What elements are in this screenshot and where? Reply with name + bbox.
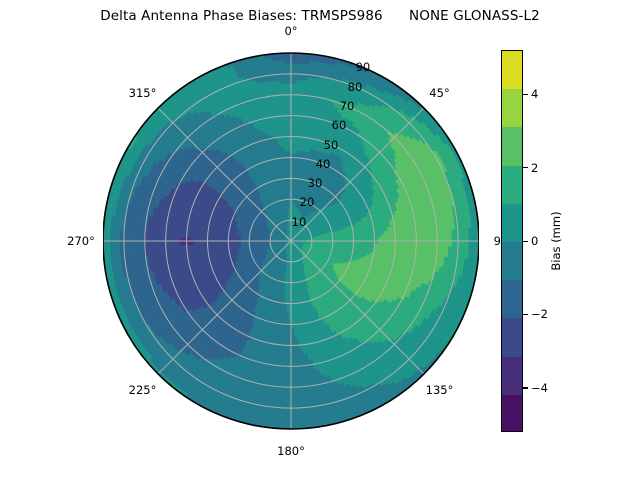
colorbar-tick-label: −4 bbox=[531, 381, 548, 395]
colorbar-band bbox=[502, 280, 522, 318]
colorbar-band bbox=[502, 242, 522, 280]
colorbar-tick bbox=[523, 94, 528, 95]
colorbar-band bbox=[502, 204, 522, 242]
colorbar-tick-label: 0 bbox=[531, 234, 538, 248]
polar-axes bbox=[103, 48, 479, 432]
radial-tick-label-80: 80 bbox=[348, 80, 363, 94]
polar-grid bbox=[103, 53, 479, 429]
azimuth-tick-label-135: 135° bbox=[426, 383, 454, 397]
colorbar bbox=[501, 50, 523, 432]
radial-tick-label-70: 70 bbox=[340, 99, 355, 113]
colorbar-band bbox=[502, 166, 522, 204]
radial-tick-label-40: 40 bbox=[316, 157, 331, 171]
azimuth-tick-label-225: 225° bbox=[129, 383, 157, 397]
colorbar-band bbox=[502, 89, 522, 127]
colorbar-tick-label: 2 bbox=[531, 161, 538, 175]
radial-tick-label-30: 30 bbox=[308, 176, 323, 190]
radial-tick-label-60: 60 bbox=[332, 118, 347, 132]
colorbar-band bbox=[502, 357, 522, 395]
figure-canvas: Delta Antenna Phase Biases: TRMSPS986 NO… bbox=[0, 0, 640, 480]
colorbar-band bbox=[502, 318, 522, 356]
azimuth-tick-label-180: 180° bbox=[277, 444, 305, 458]
radial-tick-label-10: 10 bbox=[292, 215, 307, 229]
colorbar-tick bbox=[523, 167, 528, 168]
colorbar-label: Bias (mm) bbox=[549, 211, 563, 270]
colorbar-band bbox=[502, 51, 522, 89]
polar-plot-svg bbox=[103, 48, 479, 432]
azimuth-tick-label-45: 45° bbox=[429, 86, 449, 100]
colorbar-tick bbox=[523, 241, 528, 242]
radial-tick-label-20: 20 bbox=[300, 195, 315, 209]
colorbar-band bbox=[502, 127, 522, 165]
colorbar-tick-label: −2 bbox=[531, 307, 548, 321]
colorbar-tick bbox=[523, 387, 528, 388]
azimuth-tick-label-0: 0° bbox=[284, 24, 297, 38]
colorbar-tick-label: 4 bbox=[531, 87, 538, 101]
radial-tick-label-50: 50 bbox=[324, 138, 339, 152]
chart-title: Delta Antenna Phase Biases: TRMSPS986 NO… bbox=[0, 8, 640, 24]
colorbar-tick bbox=[523, 314, 528, 315]
colorbar-band bbox=[502, 395, 522, 432]
azimuth-tick-label-315: 315° bbox=[129, 86, 157, 100]
azimuth-tick-label-270: 270° bbox=[67, 234, 95, 248]
radial-tick-label-90: 90 bbox=[356, 60, 371, 74]
